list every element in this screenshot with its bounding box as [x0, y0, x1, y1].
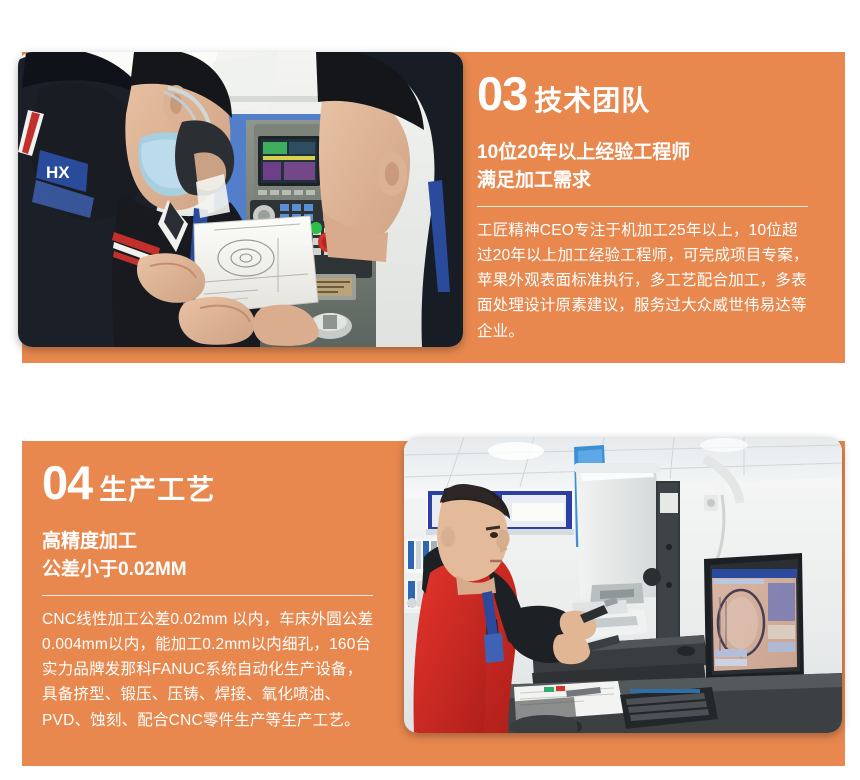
section-03-divider — [477, 206, 808, 207]
section-03-heading: 03 技术团队 — [477, 70, 812, 117]
section-04-photo — [404, 437, 842, 733]
section-03-photo: HX — [18, 52, 463, 347]
section-04-subhead: 高精度加工 公差小于0.02MM — [42, 528, 377, 583]
section-04-heading: 04 生产工艺 — [42, 459, 377, 506]
section-03-copy: 03 技术团队 10位20年以上经验工程师 满足加工需求 工匠精神CEO专注于机… — [477, 70, 812, 344]
section-04-subhead-line-1: 高精度加工 — [42, 528, 377, 556]
section-03-subhead-line-2: 满足加工需求 — [477, 167, 812, 195]
section-04-title: 生产工艺 — [99, 476, 215, 504]
section-03-title: 技术团队 — [534, 87, 650, 115]
section-04-subhead-line-2: 公差小于0.02MM — [42, 556, 377, 584]
section-03-subhead: 10位20年以上经验工程师 满足加工需求 — [477, 139, 812, 194]
section-04-copy: 04 生产工艺 高精度加工 公差小于0.02MM CNC线性加工公差0.02mm… — [42, 459, 377, 733]
section-04-body: CNC线性加工公差0.02mm 以内，车床外圆公差0.004mm以内，能加工0.… — [42, 607, 377, 733]
section-03-number: 03 — [477, 70, 527, 117]
section-03-subhead-line-1: 10位20年以上经验工程师 — [477, 139, 812, 167]
section-04-number: 04 — [42, 459, 92, 506]
promo-banner: HX — [0, 0, 860, 780]
section-04-divider — [42, 595, 373, 596]
section-03-body: 工匠精神CEO专注于机加工25年以上，10位超过20年以上加工经验工程师，可完成… — [477, 218, 812, 344]
svg-text:HX: HX — [46, 163, 70, 182]
